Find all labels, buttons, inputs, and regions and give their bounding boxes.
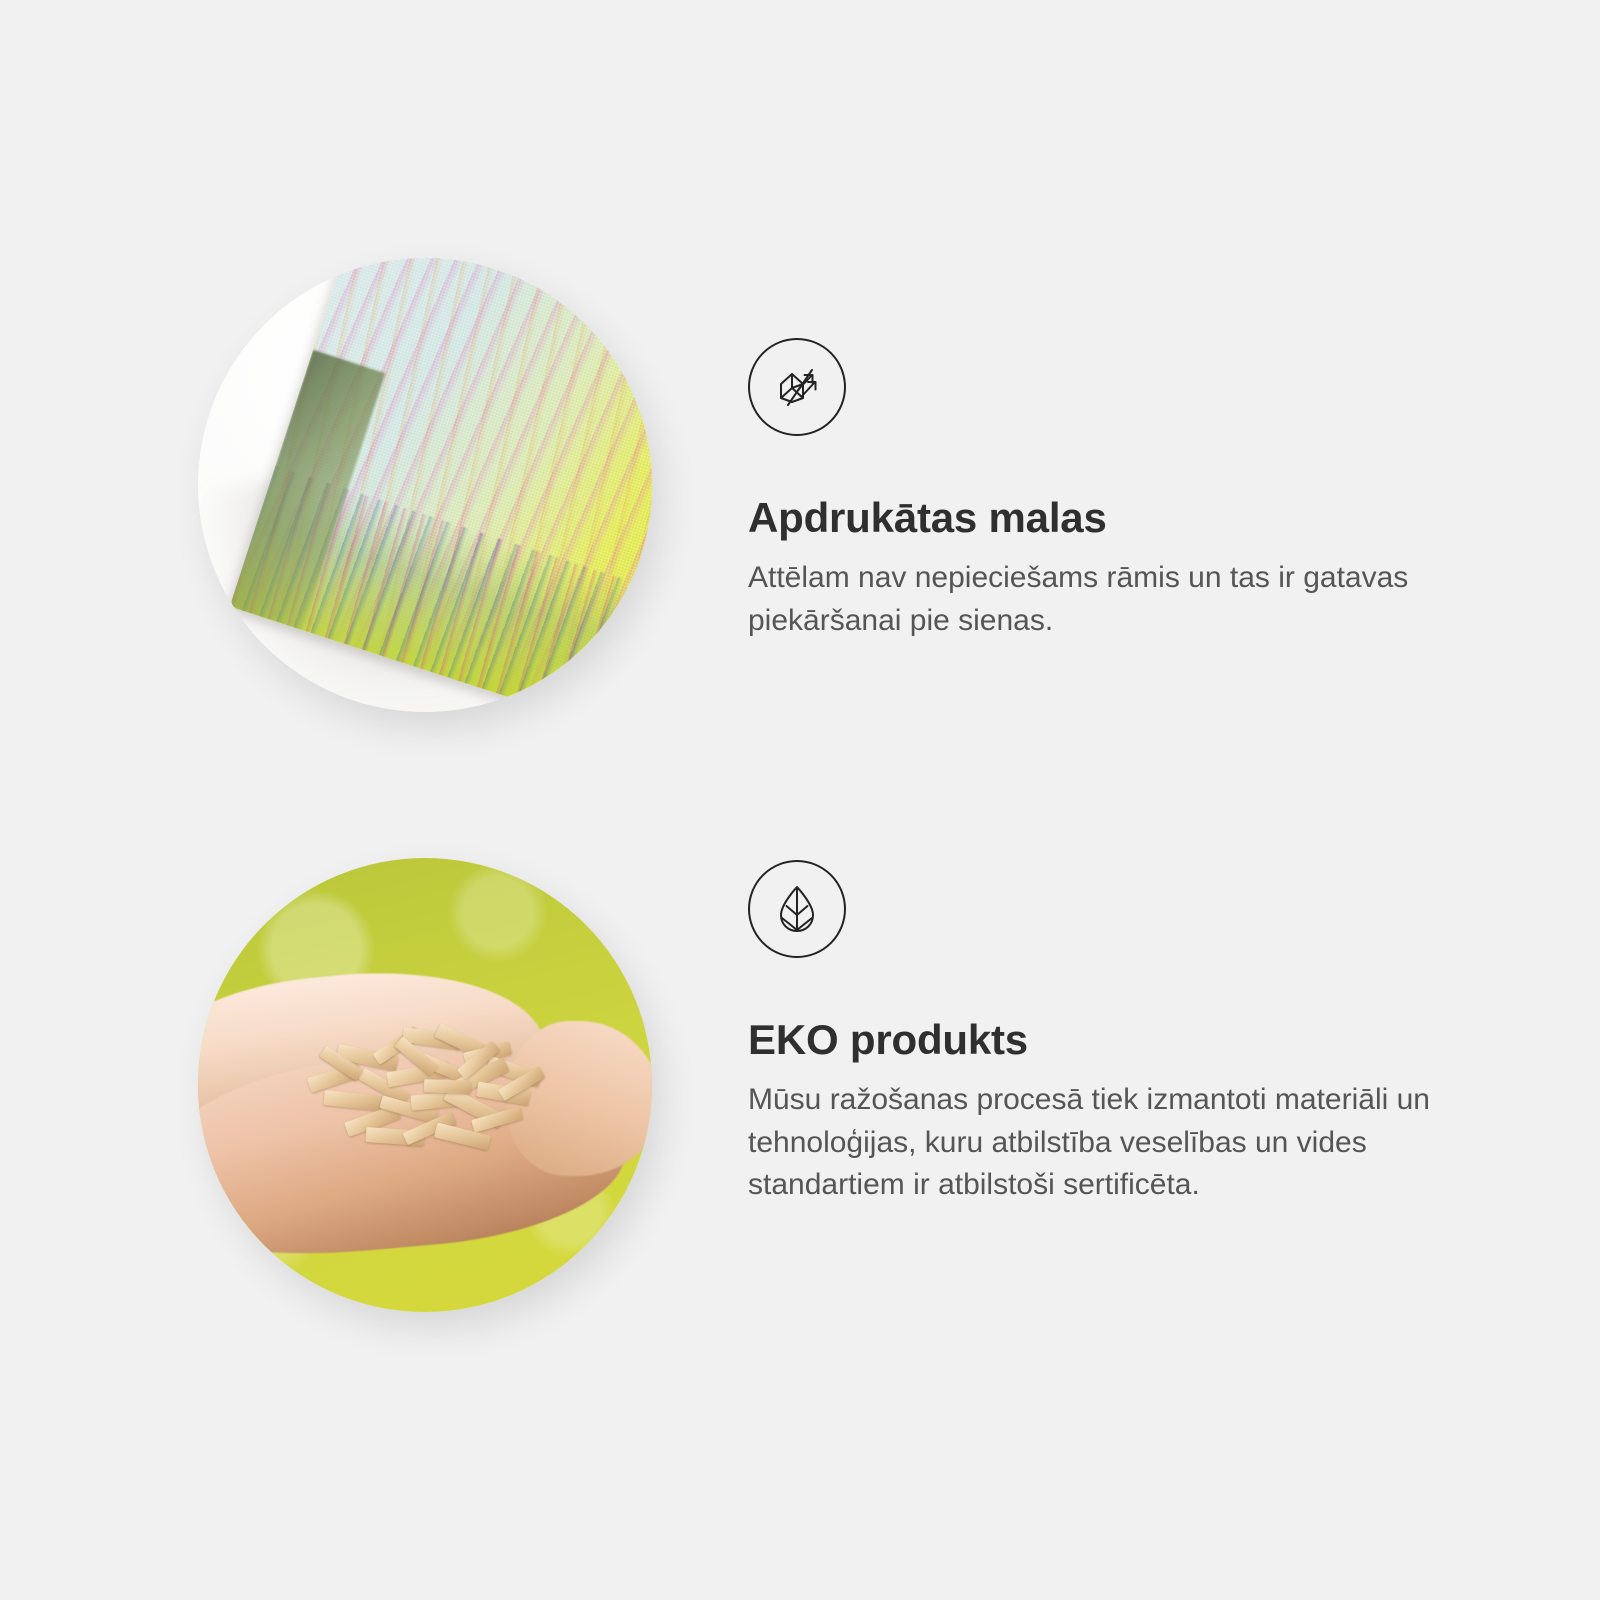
canvas-corner-photo-circle: [198, 258, 652, 712]
canvas-corner-photo: [198, 258, 652, 712]
wood-chip: [324, 1090, 383, 1111]
product-features-page: Apdrukātas malas Attēlam nav nepieciešam…: [0, 0, 1600, 1600]
feature-description: Attēlam nav nepieciešams rāmis un tas ir…: [748, 557, 1448, 642]
feature-copy-printed-edges: Apdrukātas malas Attēlam nav nepieciešam…: [748, 338, 1488, 642]
hands-with-wood-chips-photo: [198, 858, 652, 1312]
leaf-icon: [748, 860, 846, 958]
wood-chips-pile: [298, 985, 561, 1148]
wood-chip: [424, 1079, 472, 1094]
eco-photo-circle: [198, 858, 652, 1312]
printed-edges-icon: [748, 338, 846, 436]
feature-block-printed-edges: Apdrukātas malas Attēlam nav nepieciešam…: [0, 240, 1600, 880]
feature-block-eco-product: EKO produkts Mūsu ražošanas procesā tiek…: [0, 840, 1600, 1480]
feature-description: Mūsu ražošanas procesā tiek izmantoti ma…: [748, 1079, 1448, 1207]
feature-title: EKO produkts: [748, 1016, 1488, 1063]
feature-title: Apdrukātas malas: [748, 494, 1488, 541]
feature-copy-eco-product: EKO produkts Mūsu ražošanas procesā tiek…: [748, 860, 1488, 1207]
